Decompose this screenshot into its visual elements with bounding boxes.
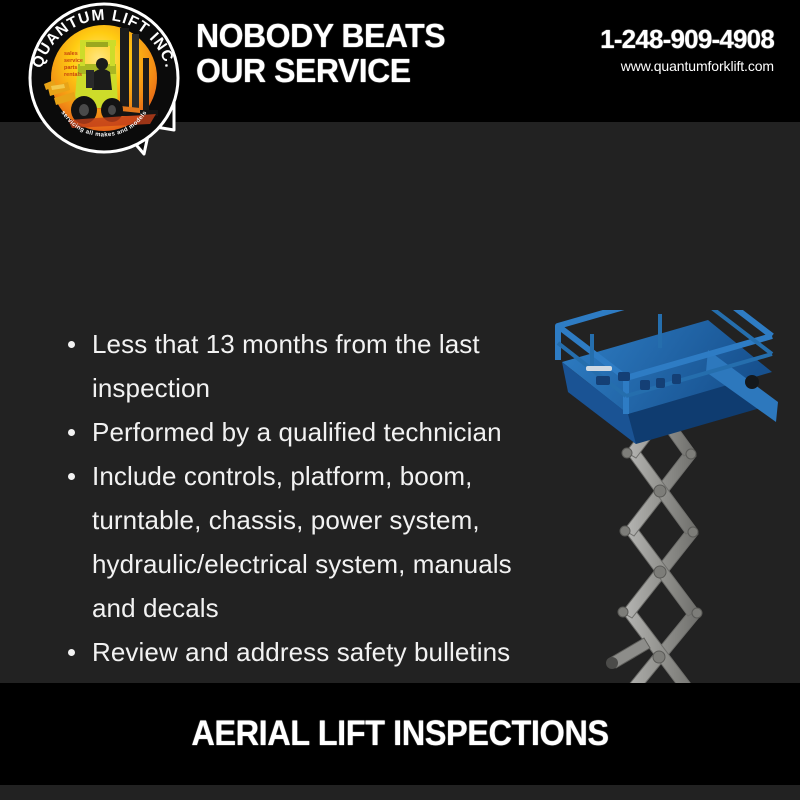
- main-content-area: Less that 13 months from the last inspec…: [0, 122, 800, 683]
- list-item-text: Review and address safety bulletins: [92, 637, 510, 667]
- headline-line-1: NOBODY BEATS: [196, 18, 445, 53]
- bullet-dot-icon: [68, 649, 75, 656]
- footer-title: AERIAL LIFT INSPECTIONS: [28, 683, 772, 785]
- header-contact-block: 1-248-909-4908 www.quantumforklift.com: [600, 24, 774, 76]
- header-headline: NOBODY BEATS OUR SERVICE: [196, 18, 445, 88]
- phone-number[interactable]: 1-248-909-4908: [600, 24, 774, 54]
- bullet-dot-icon: [68, 429, 75, 436]
- svg-text:parts: parts: [64, 65, 77, 71]
- list-item: Less that 13 months from the last inspec…: [62, 322, 542, 410]
- svg-text:service: service: [64, 58, 83, 64]
- inspection-requirements-list: Less that 13 months from the last inspec…: [62, 322, 542, 674]
- list-item-text: Performed by a qualified technician: [92, 417, 502, 447]
- list-item: Include controls, platform, boom, turnta…: [62, 454, 542, 630]
- list-item: Review and address safety bulletins: [62, 630, 542, 674]
- svg-text:sales: sales: [64, 51, 78, 57]
- list-item-text: Less that 13 months from the last inspec…: [92, 329, 480, 403]
- website-url[interactable]: www.quantumforklift.com: [600, 56, 774, 76]
- company-logo[interactable]: sales service parts rentals QUANTUM LIFT…: [24, 2, 184, 160]
- poster-canvas: Less that 13 months from the last inspec…: [0, 0, 800, 800]
- headline-line-2: OUR SERVICE: [196, 53, 445, 88]
- bullet-dot-icon: [68, 341, 75, 348]
- footer-bottom-strip: [0, 785, 800, 800]
- svg-text:rentals: rentals: [64, 72, 82, 78]
- list-item-text: Include controls, platform, boom, turnta…: [92, 461, 512, 623]
- bullet-dot-icon: [68, 473, 75, 480]
- list-item: Performed by a qualified technician: [62, 410, 542, 454]
- footer-band: AERIAL LIFT INSPECTIONS: [0, 683, 800, 785]
